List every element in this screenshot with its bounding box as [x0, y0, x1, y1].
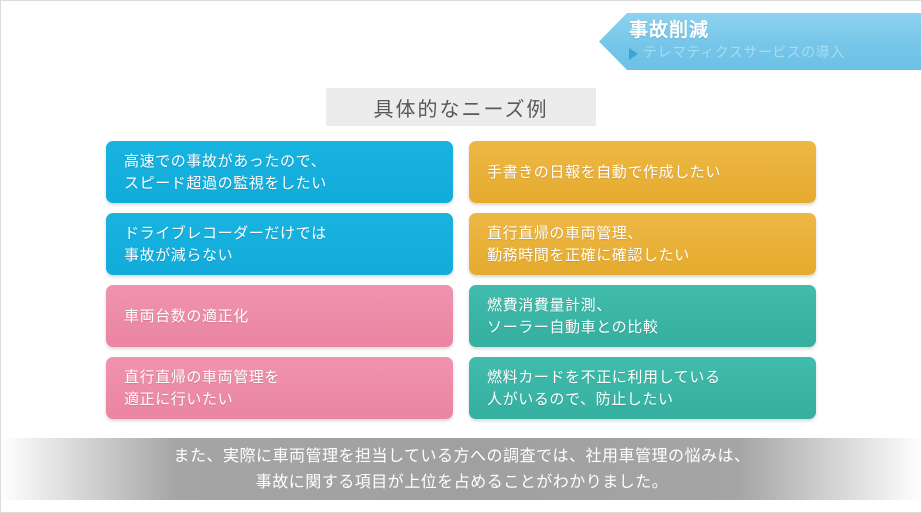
card-drive-recorder: ドライブレコーダーだけでは事故が減らない: [106, 213, 453, 275]
card-text-line: 直行直帰の車両管理を: [124, 366, 435, 388]
needs-card-grid: 高速での事故があったので、スピード超過の監視をしたい手書きの日報を自動で作成した…: [106, 141, 816, 419]
section-heading: 具体的なニーズ例: [326, 88, 596, 126]
header-ribbon: 事故削減 テレマティクスサービスの導入: [599, 13, 921, 70]
card-text-line: 手書きの日報を自動で作成したい: [487, 161, 798, 183]
card-text-line: 勤務時間を正確に確認したい: [487, 244, 798, 266]
card-text-line: 人がいるので、防止したい: [487, 388, 798, 410]
triangle-right-icon: [629, 48, 638, 60]
card-daily-report-auto: 手書きの日報を自動で作成したい: [469, 141, 816, 203]
slide-canvas: 事故削減 テレマティクスサービスの導入 具体的なニーズ例 高速での事故があったの…: [0, 0, 922, 513]
card-text-line: 適正に行いたい: [124, 388, 435, 410]
card-fuel-card-fraud: 燃料カードを不正に利用している人がいるので、防止したい: [469, 357, 816, 419]
bottom-banner: また、実際に車両管理を担当している方への調査では、社用車管理の悩みは、事故に関す…: [1, 438, 922, 500]
card-fleet-size-optimize: 車両台数の適正化: [106, 285, 453, 347]
card-speeding-monitor: 高速での事故があったので、スピード超過の監視をしたい: [106, 141, 453, 203]
card-direct-commute-hours: 直行直帰の車両管理、勤務時間を正確に確認したい: [469, 213, 816, 275]
header-title: 事故削減: [629, 18, 921, 43]
card-text-line: ソーラー自動車との比較: [487, 316, 798, 338]
card-text-line: 事故が減らない: [124, 244, 435, 266]
header-subtitle: テレマティクスサービスの導入: [643, 44, 845, 63]
card-text-line: スピード超過の監視をしたい: [124, 172, 435, 194]
header-subtitle-row: テレマティクスサービスの導入: [629, 44, 921, 63]
card-text-line: 燃料カードを不正に利用している: [487, 366, 798, 388]
card-text-line: ドライブレコーダーだけでは: [124, 222, 435, 244]
banner-text-line: また、実際に車両管理を担当している方への調査では、社用車管理の悩みは、: [173, 443, 750, 469]
card-text-line: 車両台数の適正化: [124, 305, 435, 327]
card-fuel-consumption: 燃費消費量計測、ソーラー自動車との比較: [469, 285, 816, 347]
card-direct-commute-manage: 直行直帰の車両管理を適正に行いたい: [106, 357, 453, 419]
banner-text-line: 事故に関する項目が上位を占めることがわかりました。: [256, 469, 669, 495]
card-text-line: 燃費消費量計測、: [487, 294, 798, 316]
card-text-line: 直行直帰の車両管理、: [487, 222, 798, 244]
card-text-line: 高速での事故があったので、: [124, 150, 435, 172]
